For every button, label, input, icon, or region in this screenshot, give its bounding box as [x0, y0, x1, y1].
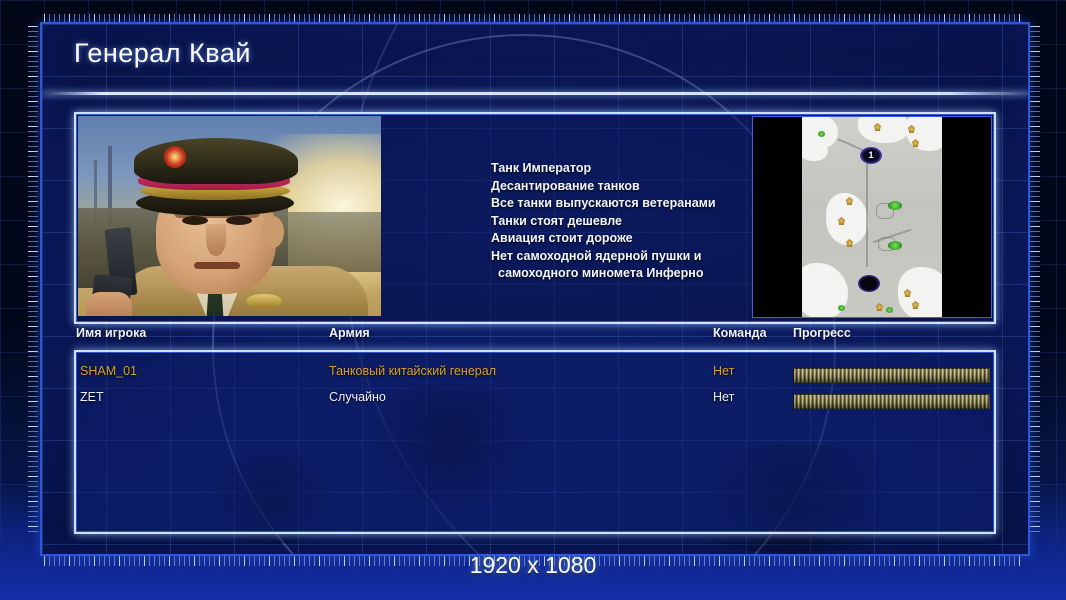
general-info-panel: Танк Император Десантирование танков Все… — [74, 112, 996, 324]
column-header-name: Имя игрока — [76, 326, 146, 340]
map-start-position-2[interactable] — [858, 275, 880, 292]
column-header-team: Команда — [713, 326, 767, 340]
player-army[interactable]: Случайно — [329, 390, 386, 404]
player-name[interactable]: ZET — [80, 390, 104, 404]
general-portrait — [78, 116, 381, 316]
general-ability-list: Танк Император Десантирование танков Все… — [491, 160, 746, 283]
player-team[interactable]: Нет — [713, 364, 734, 378]
ruler-left — [28, 26, 38, 536]
main-frame: Генерал Квай Танк Император Десантирован… — [40, 22, 1030, 556]
player-progress-bar — [793, 368, 990, 383]
column-header-army: Армия — [329, 326, 370, 340]
table-row[interactable]: SHAM_01 Танковый китайский генерал Нет — [76, 364, 994, 388]
ability-line: Танк Император — [491, 160, 746, 178]
player-army[interactable]: Танковый китайский генерал — [329, 364, 496, 378]
player-team[interactable]: Нет — [713, 390, 734, 404]
map-preview[interactable]: 1 — [752, 116, 992, 318]
title-separator — [42, 92, 1028, 95]
table-row[interactable]: ZET Случайно Нет — [76, 390, 994, 414]
ability-line: Авиация стоит дороже — [491, 230, 746, 248]
players-table-panel: SHAM_01 Танковый китайский генерал Нет Z… — [74, 350, 996, 534]
ability-line: самоходного миномета Инферно — [491, 265, 746, 283]
ruler-right — [1030, 26, 1040, 536]
ability-line: Десантирование танков — [491, 178, 746, 196]
ability-line: Все танки выпускаются ветеранами — [491, 195, 746, 213]
map-start-position-1[interactable]: 1 — [860, 147, 882, 164]
players-table-header: Имя игрока Армия Команда Прогресс — [76, 326, 992, 348]
general-description-area: Танк Император Десантирование танков Все… — [381, 116, 752, 320]
map-preview-image: 1 — [802, 117, 942, 317]
player-name[interactable]: SHAM_01 — [80, 364, 137, 378]
page-title: Генерал Квай — [74, 38, 251, 69]
title-bar: Генерал Квай — [42, 24, 1028, 92]
player-progress-bar — [793, 394, 990, 409]
column-header-progress: Прогресс — [793, 326, 851, 340]
ability-line: Танки стоят дешевле — [491, 213, 746, 231]
ability-line: Нет самоходной ядерной пушки и — [491, 248, 746, 266]
resolution-label: 1920 x 1080 — [0, 552, 1066, 579]
